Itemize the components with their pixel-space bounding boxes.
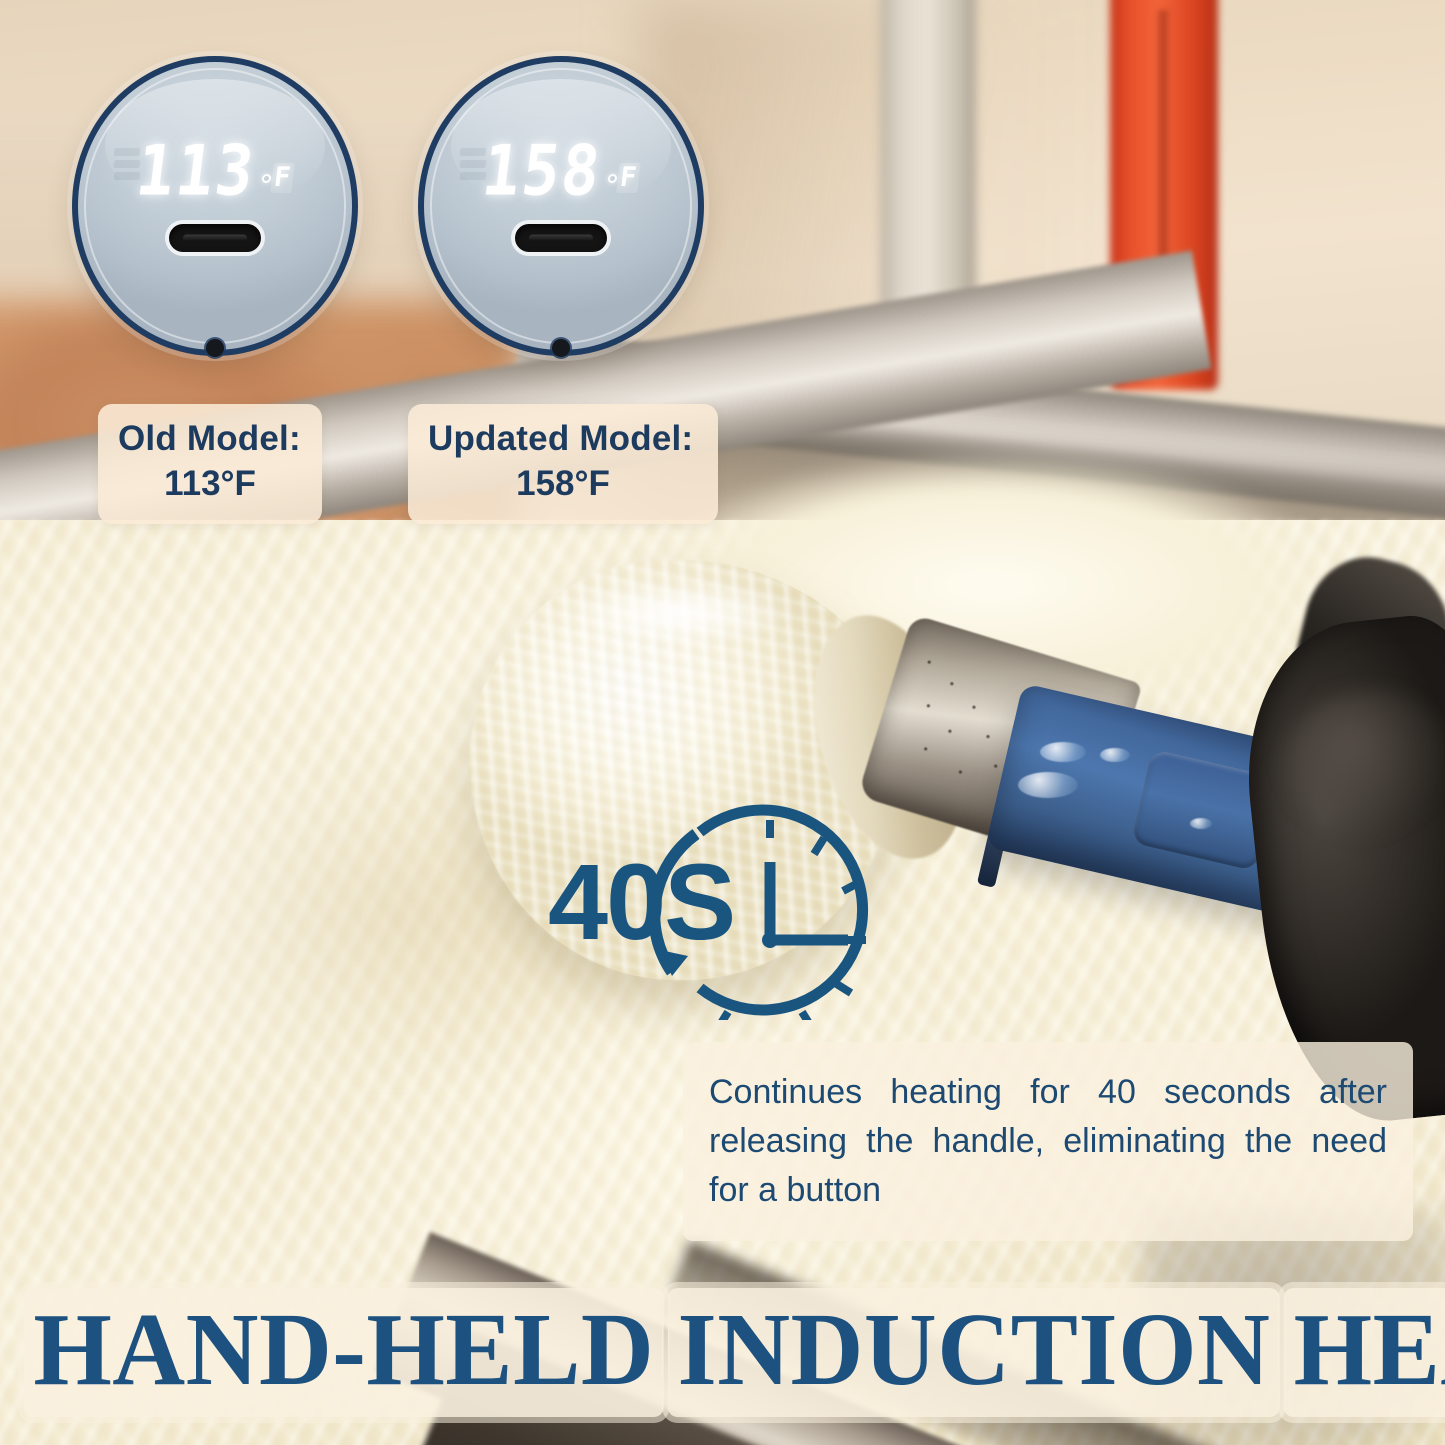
headline-word-2: INDUCTION	[668, 1288, 1280, 1417]
device-display-old-model: 113 F	[72, 56, 358, 356]
usb-c-tongue	[529, 235, 593, 242]
ice-cream-scoop-highlight	[520, 568, 840, 658]
timer-label: 40S	[548, 848, 734, 956]
badge-updated-model: Updated Model: 158°F	[408, 404, 718, 524]
page-title: HAND-HELDINDUCTIONHEATING	[22, 1288, 1424, 1417]
led-temperature-value: 158	[479, 136, 606, 205]
degree-symbol-icon	[607, 173, 617, 182]
device-bottom-notch	[206, 339, 224, 357]
timer-badge: 40S	[548, 790, 908, 1020]
led-unit-letter: F	[616, 163, 641, 193]
led-temperature-value: 113	[133, 136, 260, 205]
headline-word-3: HEATING	[1284, 1288, 1445, 1417]
device-display-updated-model: 158 F	[418, 56, 704, 356]
badge-updated-model-value: 158°F	[428, 461, 698, 507]
led-unit-letter: F	[270, 163, 295, 193]
feature-description: Continues heating for 40 seconds after r…	[683, 1042, 1413, 1241]
led-readout-updated: 158 F	[424, 140, 698, 202]
led-unit-block: F	[606, 163, 641, 193]
badge-old-model: Old Model: 113°F	[98, 404, 322, 524]
device-bottom-notch	[552, 339, 570, 357]
water-droplet	[1100, 748, 1130, 762]
led-readout-old: 113 F	[78, 140, 352, 202]
usb-c-port	[165, 220, 265, 256]
badge-old-model-title: Old Model:	[118, 418, 302, 461]
headline-word-1: HAND-HELD	[24, 1288, 664, 1417]
led-unit-block: F	[260, 163, 295, 193]
product-promo-image: 113 F 158 F Old Model:	[0, 0, 1445, 1445]
clock-center-dot	[762, 932, 778, 948]
water-droplet	[1190, 818, 1212, 829]
usb-c-port	[511, 220, 611, 256]
badge-old-model-value: 113°F	[118, 461, 302, 507]
badge-updated-model-title: Updated Model:	[428, 418, 698, 461]
glove-knuckle-highlight	[1285, 690, 1445, 840]
usb-c-tongue	[183, 235, 247, 242]
water-droplet	[1040, 742, 1086, 762]
water-droplet	[1018, 772, 1078, 798]
degree-symbol-icon	[261, 173, 271, 182]
